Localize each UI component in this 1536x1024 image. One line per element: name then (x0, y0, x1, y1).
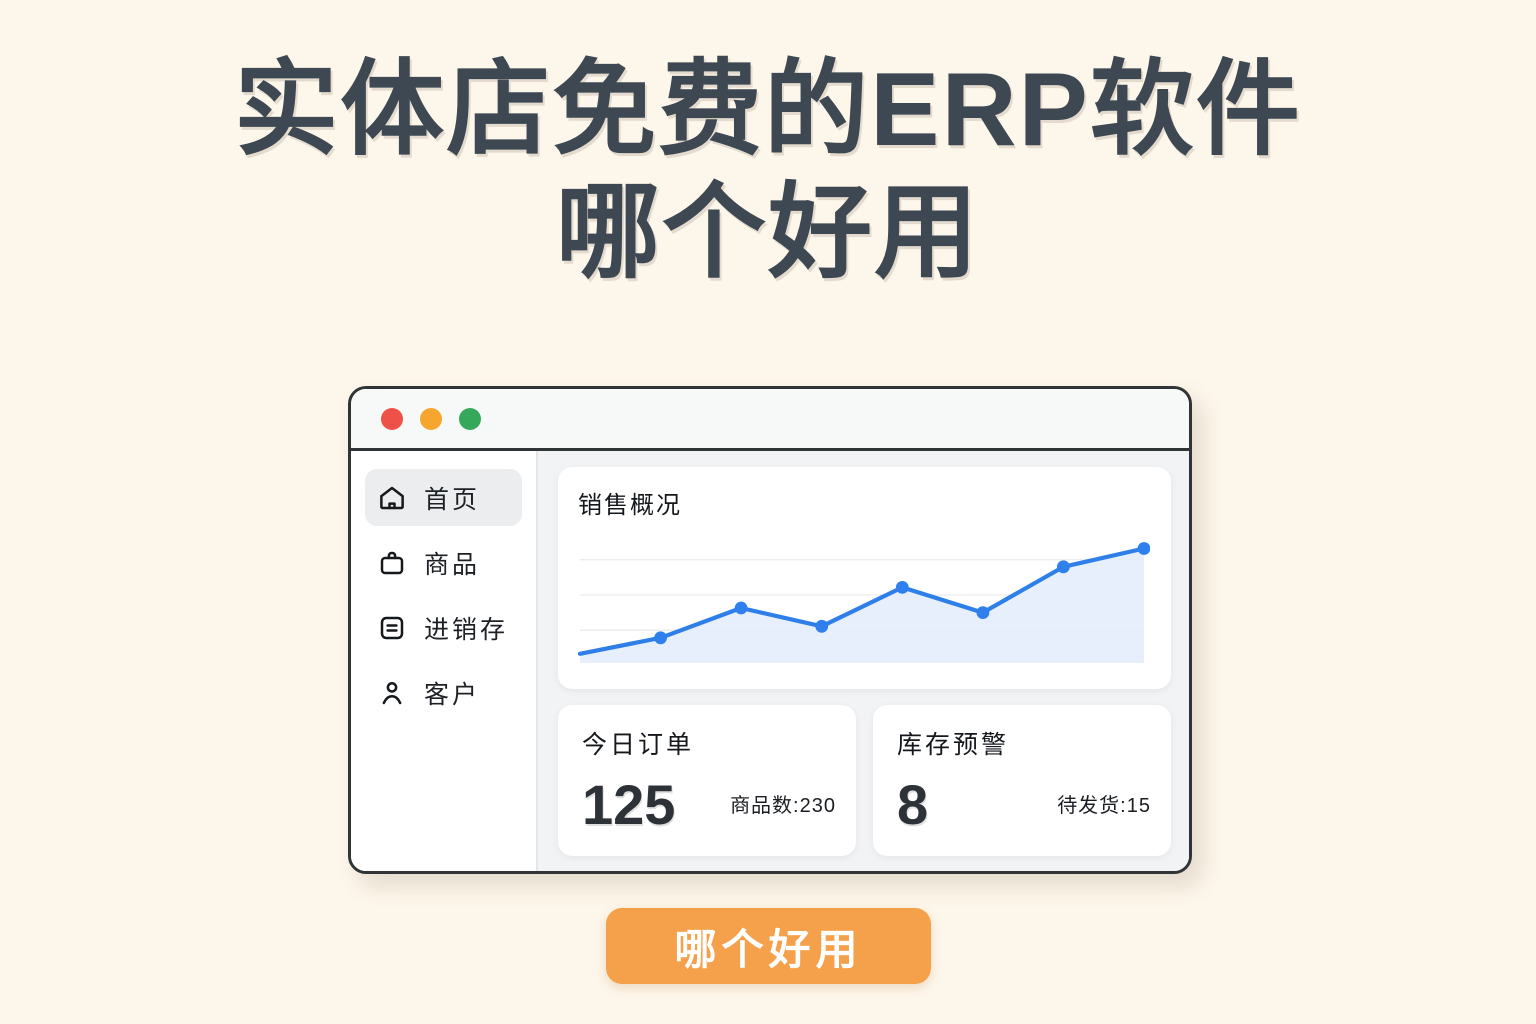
today-orders-card: 今日订单 125 商品数:230 (558, 705, 856, 856)
list-icon (377, 613, 407, 643)
home-icon (377, 483, 407, 513)
stat-label: 今日订单 (582, 725, 834, 761)
sidebar: 首页 商品 (351, 451, 538, 874)
stock-alert-card: 库存预警 8 待发货:15 (873, 705, 1171, 856)
sidebar-item-label: 客户 (424, 675, 480, 711)
sidebar-item-home[interactable]: 首页 (365, 469, 522, 526)
window-titlebar (351, 389, 1189, 451)
app-window: 首页 商品 (348, 386, 1192, 874)
stat-sublabel: 商品数:230 (730, 789, 836, 818)
window-body: 首页 商品 (351, 451, 1189, 874)
sidebar-item-label: 商品 (424, 545, 480, 581)
sidebar-item-label: 进销存 (424, 610, 508, 646)
sidebar-item-customers[interactable]: 客户 (365, 664, 522, 721)
stat-label: 库存预警 (897, 725, 1149, 761)
stat-sublabel: 待发货:15 (1057, 789, 1151, 818)
sidebar-item-inventory[interactable]: 进销存 (365, 599, 522, 656)
page-title: 实体店免费的ERP软件 哪个好用 (0, 56, 1536, 288)
stat-cards-row: 今日订单 125 商品数:230 库存预警 8 待发货:15 (558, 705, 1171, 856)
sales-line-chart (578, 529, 1150, 669)
close-icon[interactable] (381, 408, 403, 430)
sales-overview-card: 销售概况 (558, 467, 1171, 689)
maximize-icon[interactable] (459, 408, 481, 430)
sidebar-item-products[interactable]: 商品 (365, 534, 522, 591)
sidebar-item-label: 首页 (424, 480, 480, 516)
bag-icon (377, 548, 407, 578)
poster-root: 实体店免费的ERP软件 哪个好用 首页 (0, 0, 1536, 1024)
headline-line-1: 实体店免费的ERP软件 (0, 56, 1536, 165)
chart-title: 销售概况 (578, 485, 1151, 520)
main-content: 销售概况 今日订单 125 商品数:230 库存预警 8 待发货:15 (538, 451, 1189, 874)
user-icon (377, 678, 407, 708)
headline-line-2: 哪个好用 (0, 179, 1536, 288)
minimize-icon[interactable] (420, 408, 442, 430)
cta-button[interactable]: 哪个好用 (606, 908, 931, 984)
